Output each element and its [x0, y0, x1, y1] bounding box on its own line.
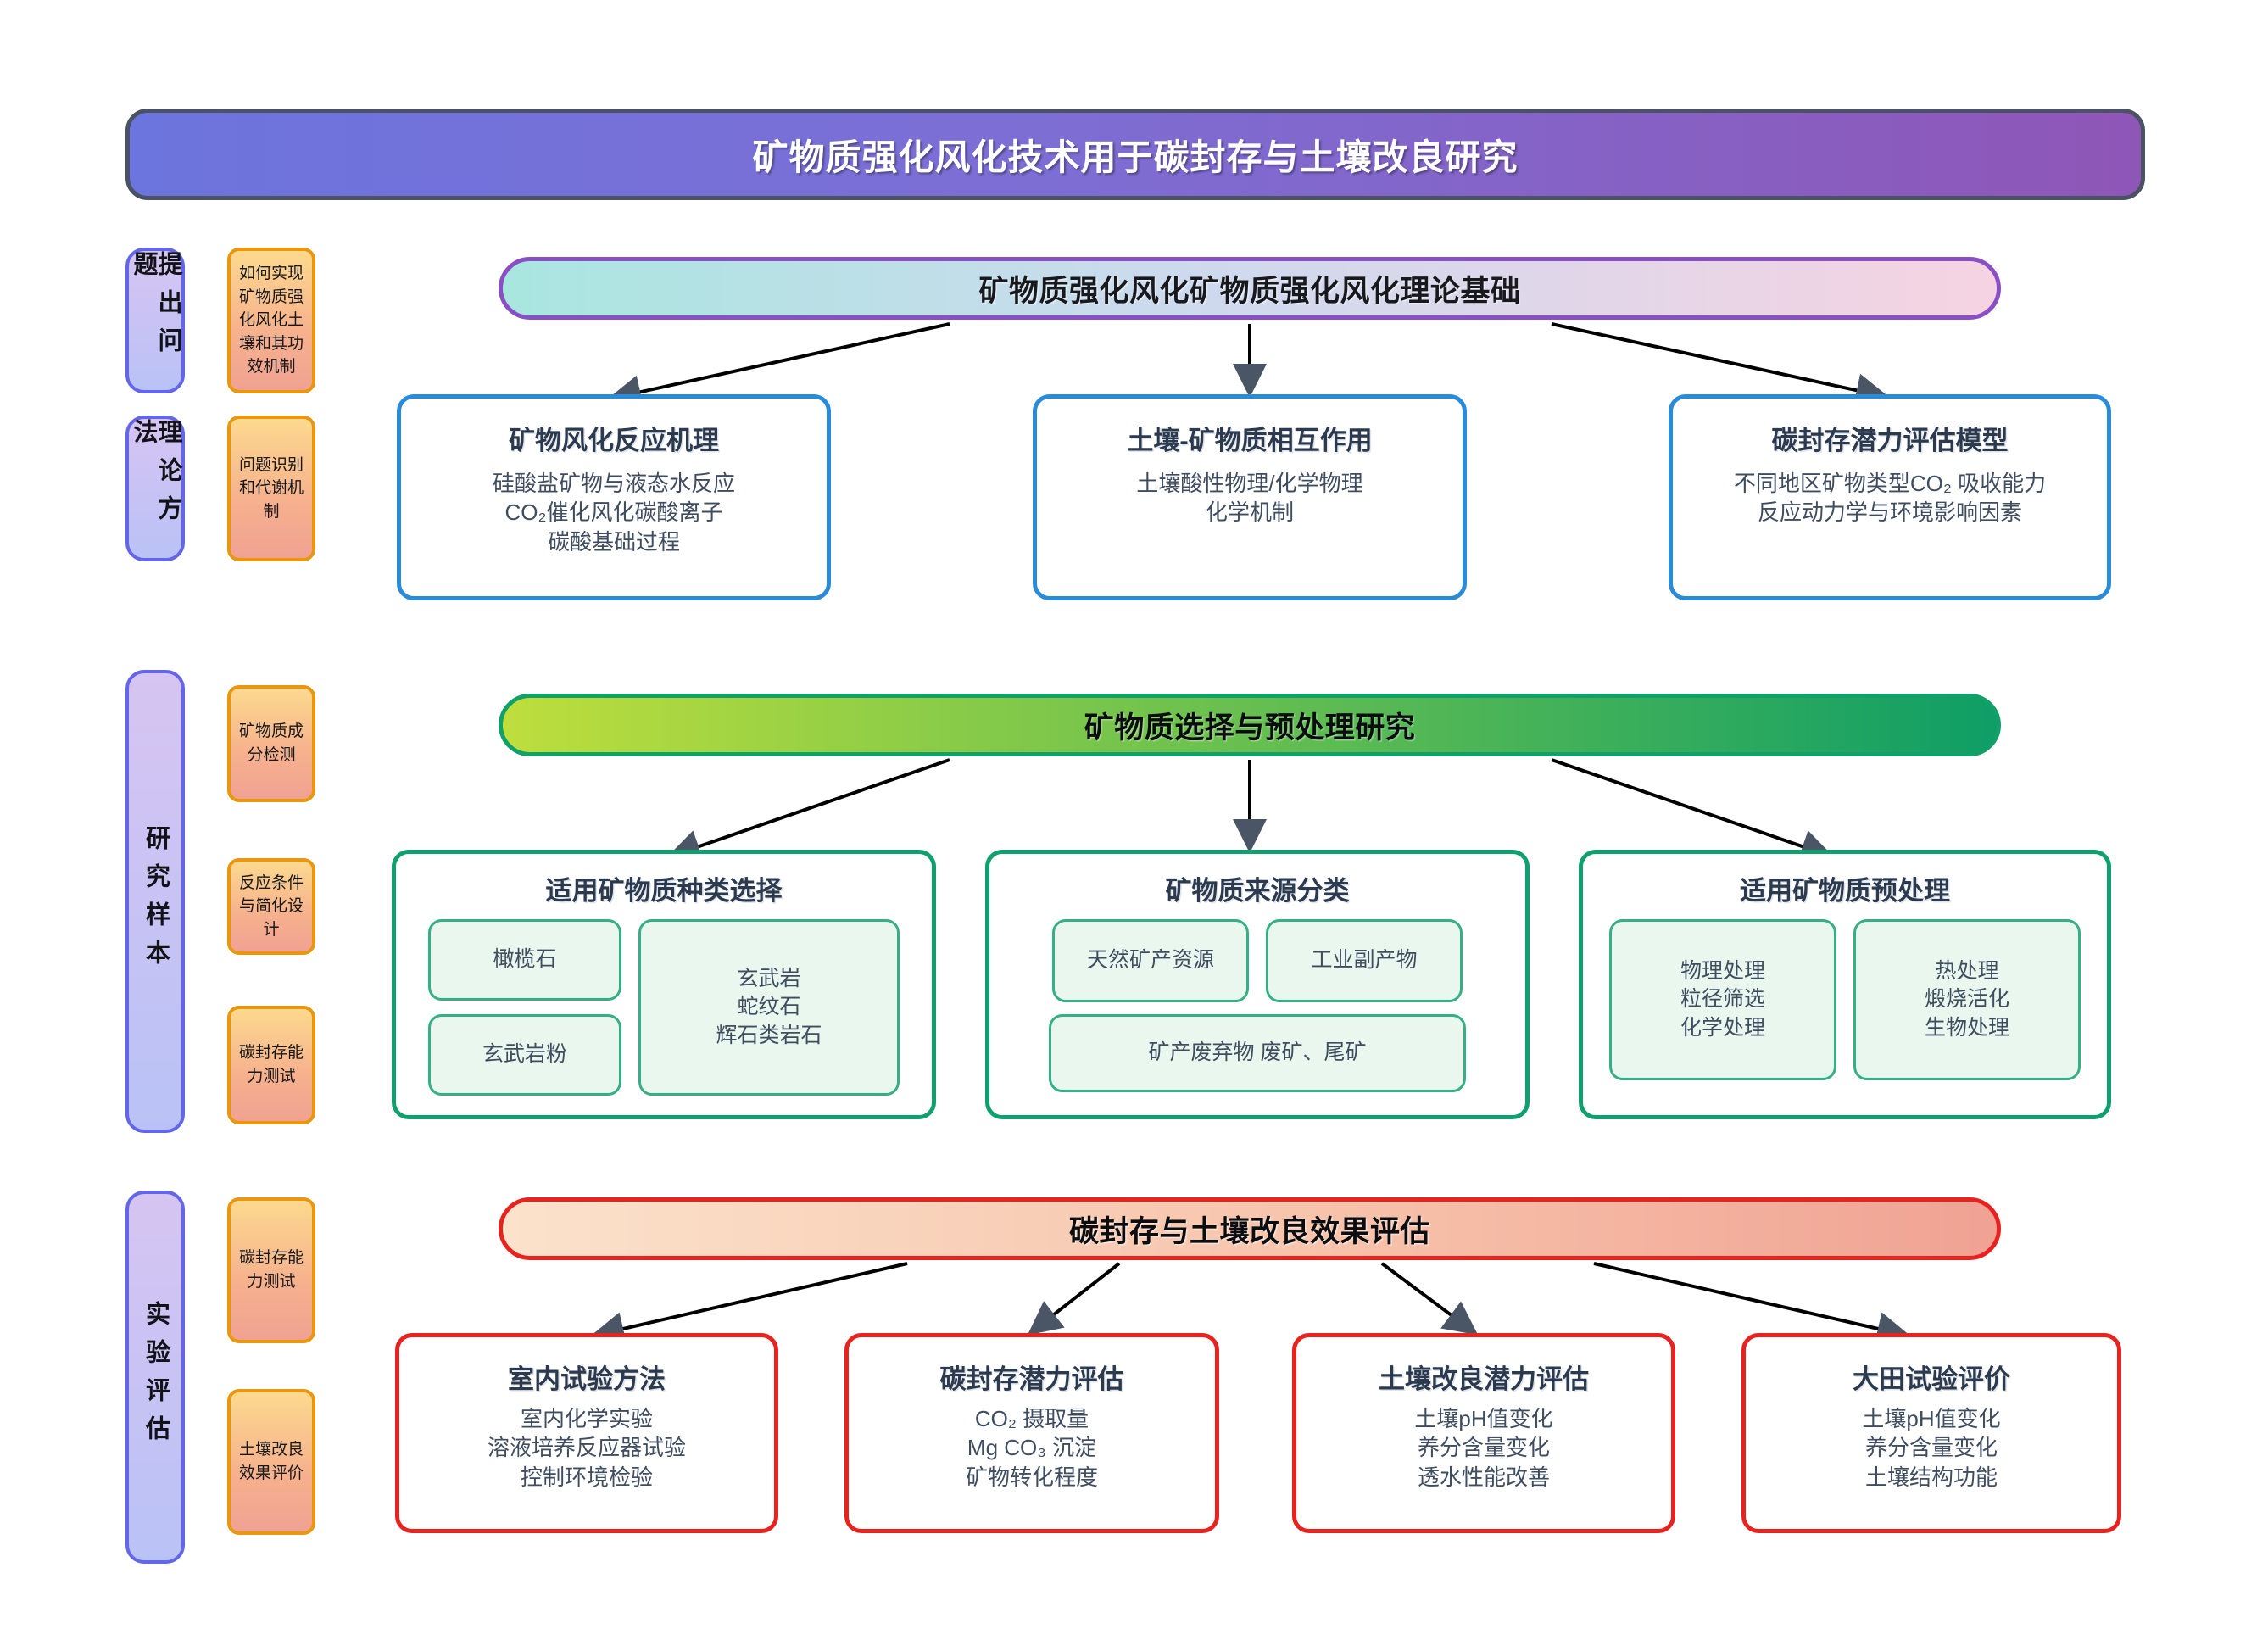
mini-chip-label: 如何实现矿物质强化风化土壤和其功效机制: [236, 262, 307, 379]
card-title: 土壤改良潜力评估: [1379, 1358, 1589, 1396]
card-title: 适用矿物质预处理: [1740, 869, 1950, 907]
mini-chip-5[interactable]: 碳封存能力测试: [227, 1006, 315, 1124]
card-line: 控制环境检验: [521, 1463, 653, 1492]
card-line: 透水性能改善: [1418, 1463, 1550, 1492]
section-pill-theory[interactable]: 矿物质强化风化矿物质强化风化理论基础: [499, 257, 2001, 320]
card-line: 化学机制: [1206, 498, 1294, 527]
card-line: 硅酸盐矿物与液态水反应: [493, 469, 735, 498]
stage-chip-label: 提出问题: [131, 251, 180, 390]
card-line: 土壤pH值变化: [1862, 1404, 2000, 1433]
card-line: 土壤结构功能: [1865, 1463, 1998, 1492]
stage-chip-label: 理论方法: [131, 419, 180, 558]
sub-chip-line: 工业副产物: [1311, 946, 1417, 975]
sub-chip-line: 辉石类岩石: [716, 1022, 822, 1051]
card-title: 碳封存潜力评估模型: [1772, 419, 2009, 457]
card-line: 养分含量变化: [1418, 1433, 1550, 1462]
mini-chip-label: 反应条件与简化设计: [236, 872, 307, 942]
diagram-canvas: 矿物质强化风化技术用于碳封存与土壤改良研究 提出问题 理论方法 研究样本 实验评…: [0, 0, 2268, 1640]
mini-chip-2[interactable]: 问题识别和代谢机制: [227, 416, 315, 561]
card-soil-mineral-interaction[interactable]: 土壤-矿物质相互作用 土壤酸性物理/化学物理 化学机制: [1033, 394, 1467, 600]
card-title: 土壤-矿物质相互作用: [1127, 419, 1372, 457]
card-lab-test-method[interactable]: 室内试验方法 室内化学实验 溶液培养反应器试验 控制环境检验: [395, 1333, 778, 1533]
sub-chip-line: 矿产废弃物 废矿、尾矿: [1149, 1039, 1367, 1068]
card-mineral-pretreatment[interactable]: 适用矿物质预处理 物理处理 粒径筛选 化学处理 热处理 煅烧活化 生物处理: [1579, 850, 2111, 1119]
mini-chip-7[interactable]: 土壤改良效果评价: [227, 1389, 315, 1535]
stage-chip-shiyanpinggu[interactable]: 实验评估: [125, 1191, 185, 1564]
section-pill-eval[interactable]: 碳封存与土壤改良效果评估: [499, 1197, 2001, 1260]
card-mineral-source-classification[interactable]: 矿物质来源分类 天然矿产资源 工业副产物 矿产废弃物 废矿、尾矿: [985, 850, 1530, 1119]
mini-chip-1[interactable]: 如何实现矿物质强化风化土壤和其功效机制: [227, 248, 315, 393]
card-line: 矿物转化程度: [966, 1463, 1098, 1492]
section-pill-sample[interactable]: 矿物质选择与预处理研究: [499, 694, 2001, 756]
sub-chip-thermal-treatment[interactable]: 热处理 煅烧活化 生物处理: [1853, 919, 2081, 1080]
sub-chip-physical-treatment[interactable]: 物理处理 粒径筛选 化学处理: [1609, 919, 1836, 1080]
card-line: 碳酸基础过程: [548, 527, 680, 556]
card-soil-improvement-potential[interactable]: 土壤改良潜力评估 土壤pH值变化 养分含量变化 透水性能改善: [1292, 1333, 1675, 1533]
card-title: 室内试验方法: [508, 1358, 666, 1396]
mini-chip-label: 矿物质成分检测: [236, 720, 307, 767]
mini-chip-4[interactable]: 反应条件与简化设计: [227, 858, 315, 955]
sub-chip-line: 天然矿产资源: [1087, 946, 1214, 975]
card-title: 大田试验评价: [1853, 1358, 2010, 1396]
card-carbon-storage-model[interactable]: 碳封存潜力评估模型 不同地区矿物类型CO₂ 吸收能力 反应动力学与环境影响因素: [1669, 394, 2111, 600]
section-pill-label: 矿物质选择与预处理研究: [1084, 704, 1416, 747]
card-field-trial-evaluation[interactable]: 大田试验评价 土壤pH值变化 养分含量变化 土壤结构功能: [1741, 1333, 2121, 1533]
page-title-text: 矿物质强化风化技术用于碳封存与土壤改良研究: [752, 129, 1518, 181]
sub-chip-line: 物理处理: [1680, 957, 1765, 986]
mini-chip-label: 土壤改良效果评价: [236, 1438, 307, 1485]
card-line: CO₂催化风化碳酸离子: [504, 498, 722, 527]
mini-chip-6[interactable]: 碳封存能力测试: [227, 1197, 315, 1343]
card-line: 溶液培养反应器试验: [488, 1433, 686, 1462]
card-line: 反应动力学与环境影响因素: [1758, 498, 2022, 527]
sub-chip-line: 玄武岩粉: [482, 1040, 567, 1069]
section-pill-label: 矿物质强化风化矿物质强化风化理论基础: [978, 267, 1520, 310]
card-line: 土壤pH值变化: [1414, 1404, 1552, 1433]
sub-chip-basalt-powder[interactable]: 玄武岩粉: [428, 1014, 621, 1096]
sub-chip-line: 橄榄石: [493, 946, 556, 974]
section-pill-label: 碳封存与土壤改良效果评估: [1069, 1208, 1430, 1251]
card-line: 室内化学实验: [521, 1404, 653, 1433]
sub-chip-line: 玄武岩: [737, 965, 800, 994]
sub-chip-line: 粒径筛选: [1680, 985, 1765, 1014]
card-mineral-weathering-mechanism[interactable]: 矿物风化反应机理 硅酸盐矿物与液态水反应 CO₂催化风化碳酸离子 碳酸基础过程: [397, 394, 831, 600]
mini-chip-label: 碳封存能力测试: [236, 1247, 307, 1293]
card-title: 矿物质来源分类: [1166, 869, 1350, 907]
sub-chip-industrial-byproduct[interactable]: 工业副产物: [1266, 919, 1463, 1002]
card-title: 矿物风化反应机理: [509, 419, 719, 457]
sub-chip-line: 煅烧活化: [1925, 985, 2009, 1014]
card-title: 适用矿物质种类选择: [546, 869, 783, 907]
card-title: 碳封存潜力评估: [940, 1358, 1124, 1396]
sub-chip-natural-resource[interactable]: 天然矿产资源: [1052, 919, 1249, 1002]
sub-chip-line: 化学处理: [1680, 1014, 1765, 1043]
card-carbon-storage-potential[interactable]: 碳封存潜力评估 CO₂ 摄取量 Mg CO₃ 沉淀 矿物转化程度: [844, 1333, 1219, 1533]
stage-chip-tichuwenti[interactable]: 提出问题: [125, 248, 185, 393]
card-line: 不同地区矿物类型CO₂ 吸收能力: [1734, 469, 2046, 498]
page-title: 矿物质强化风化技术用于碳封存与土壤改良研究: [125, 109, 2145, 200]
sub-chip-mining-waste[interactable]: 矿产废弃物 废矿、尾矿: [1049, 1014, 1466, 1092]
mini-chip-3[interactable]: 矿物质成分检测: [227, 685, 315, 802]
sub-chip-line: 热处理: [1935, 957, 1998, 986]
stage-chip-label: 研究样本: [143, 825, 168, 978]
stage-chip-label: 实验评估: [143, 1301, 168, 1453]
sub-chip-line: 蛇纹石: [737, 993, 800, 1022]
card-line: Mg CO₃ 沉淀: [967, 1433, 1096, 1462]
card-line: 养分含量变化: [1865, 1433, 1998, 1462]
mini-chip-label: 碳封存能力测试: [236, 1041, 307, 1088]
mini-chip-label: 问题识别和代谢机制: [236, 454, 307, 524]
stage-chip-lilunfangfa[interactable]: 理论方法: [125, 416, 185, 561]
sub-chip-rock-group[interactable]: 玄武岩 蛇纹石 辉石类岩石: [638, 919, 900, 1096]
sub-chip-olivine[interactable]: 橄榄石: [428, 919, 621, 1001]
card-line: 土壤酸性物理/化学物理: [1136, 469, 1362, 498]
card-line: CO₂ 摄取量: [975, 1404, 1089, 1433]
card-mineral-type-selection[interactable]: 适用矿物质种类选择 橄榄石 玄武岩粉 玄武岩 蛇纹石 辉石类岩石: [392, 850, 936, 1119]
stage-chip-yanjiuyangben[interactable]: 研究样本: [125, 670, 185, 1133]
sub-chip-line: 生物处理: [1925, 1014, 2009, 1043]
